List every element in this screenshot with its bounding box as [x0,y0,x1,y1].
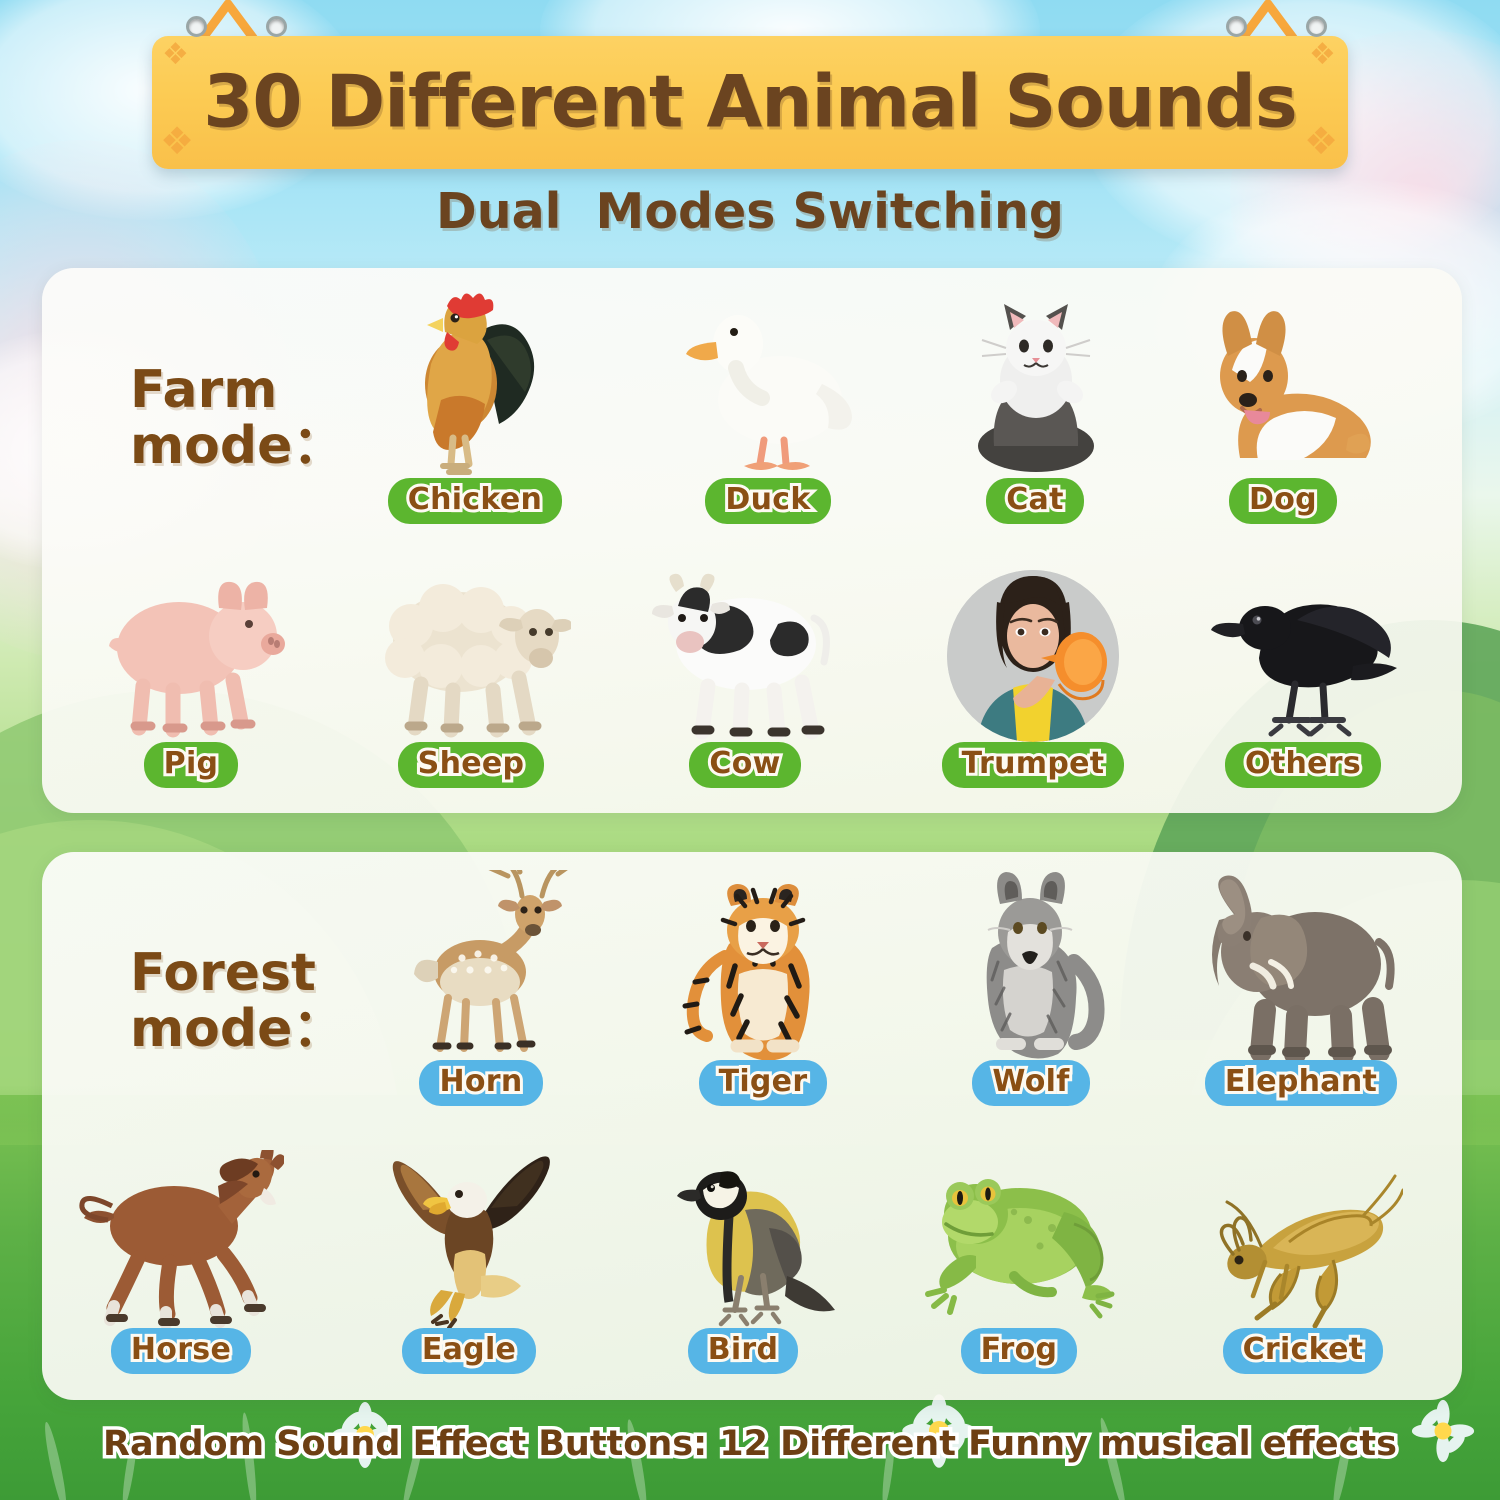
animal-cell-dog[interactable]: Dog [1180,286,1386,524]
duck-icon [672,288,864,478]
sign-grommet [1306,16,1327,37]
animal-cell-tiger[interactable]: Tiger [660,868,866,1106]
sign-grommet [186,16,207,37]
eagle-icon [369,1150,569,1328]
animal-cell-eagle[interactable]: Eagle [366,1148,572,1374]
animal-cell-chicken[interactable]: Chicken [372,286,578,524]
sign-grommet [266,16,287,37]
animal-label-bird: Bird [688,1328,799,1374]
animal-cell-others[interactable]: Others [1200,560,1406,788]
elephant-icon [1201,870,1401,1060]
animal-cell-cow[interactable]: Cow [642,560,848,788]
animal-cell-pig[interactable]: Pig [88,560,294,788]
forest-mode-label: Forest mode： [130,945,344,1057]
animal-label-duck: Duck [705,478,830,524]
animal-label-elephant: Elephant [1205,1060,1397,1106]
header-sign: ❖ ❖ ❖ ❖ 30 Different Animal Sounds [0,0,1500,175]
cricket-icon [1203,1150,1403,1328]
footer-text: Random Sound Effect Buttons: 12 Differen… [0,1424,1500,1464]
sign-grommet [1226,16,1247,37]
horse-icon [78,1150,284,1328]
tiger-icon [665,870,861,1060]
animal-label-horse: Horse [111,1328,251,1374]
animal-cell-trumpet[interactable]: Trumpet [930,560,1136,788]
animal-label-eagle: Eagle [402,1328,536,1374]
crow-icon [1203,562,1403,742]
animal-label-trumpet: Trumpet [942,742,1125,788]
animal-label-cow: Cow [689,742,800,788]
animal-cell-cat[interactable]: Cat [932,286,1138,524]
animal-cell-frog[interactable]: Frog [916,1148,1122,1374]
rooster-icon [383,288,567,478]
dog-icon [1188,288,1378,478]
animal-label-tiger: Tiger [699,1060,828,1106]
animal-cell-elephant[interactable]: Elephant [1198,868,1404,1106]
animal-label-frog: Frog [961,1328,1078,1374]
animal-label-wolf: Wolf [972,1060,1089,1106]
animal-cell-horse[interactable]: Horse [78,1148,284,1374]
animal-label-horn: Horn [419,1060,542,1106]
deer-icon [388,870,574,1060]
animal-label-cricket: Cricket [1223,1328,1384,1374]
animal-cell-horn[interactable]: Horn [378,868,584,1106]
cat-icon [944,288,1126,478]
promo-page: ❖ ❖ ❖ ❖ 30 Different Animal Sounds Dual … [0,0,1500,1500]
animal-cell-sheep[interactable]: Sheep [368,560,574,788]
sheep-icon [371,562,571,742]
page-subtitle: Dual Modes Switching [0,183,1500,240]
pig-icon [91,562,291,742]
animal-label-chicken: Chicken [388,478,562,524]
wolf-icon [936,870,1126,1060]
animal-label-pig: Pig [144,742,239,788]
animal-label-others: Others [1225,742,1381,788]
animal-cell-bird[interactable]: Bird [640,1148,846,1374]
animal-cell-duck[interactable]: Duck [665,286,871,524]
animal-cell-cricket[interactable]: Cricket [1200,1148,1406,1374]
cow-icon [642,562,848,742]
animal-label-dog: Dog [1229,478,1337,524]
trumpet-photo-icon [947,570,1119,742]
farm-mode-label: Farm mode： [130,362,344,474]
frog-icon [918,1150,1120,1328]
animal-label-sheep: Sheep [398,742,545,788]
animal-label-cat: Cat [986,478,1084,524]
animal-cell-wolf[interactable]: Wolf [928,868,1134,1106]
sign-board: ❖ ❖ ❖ ❖ 30 Different Animal Sounds [152,36,1348,169]
bird-icon [645,1150,841,1328]
page-title: 30 Different Animal Sounds [152,59,1348,143]
